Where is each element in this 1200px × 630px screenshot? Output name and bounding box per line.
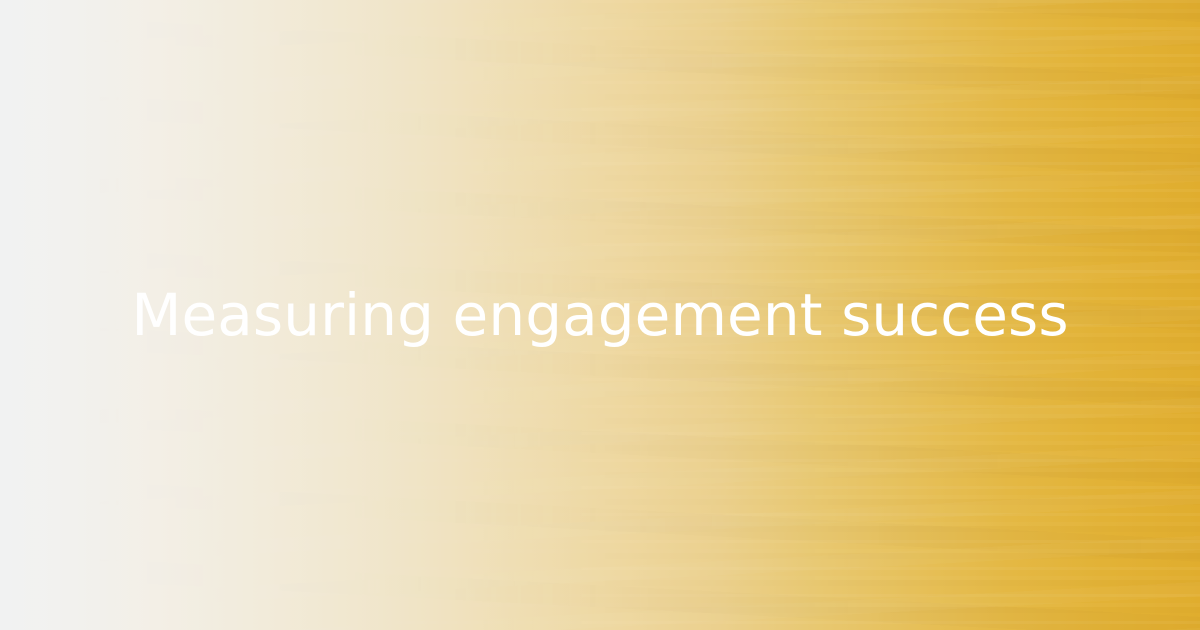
banner-headline: Measuring engagement success <box>131 282 1068 349</box>
headline-container: Measuring engagement success <box>0 0 1200 630</box>
banner-card: Measuring engagement success <box>0 0 1200 630</box>
